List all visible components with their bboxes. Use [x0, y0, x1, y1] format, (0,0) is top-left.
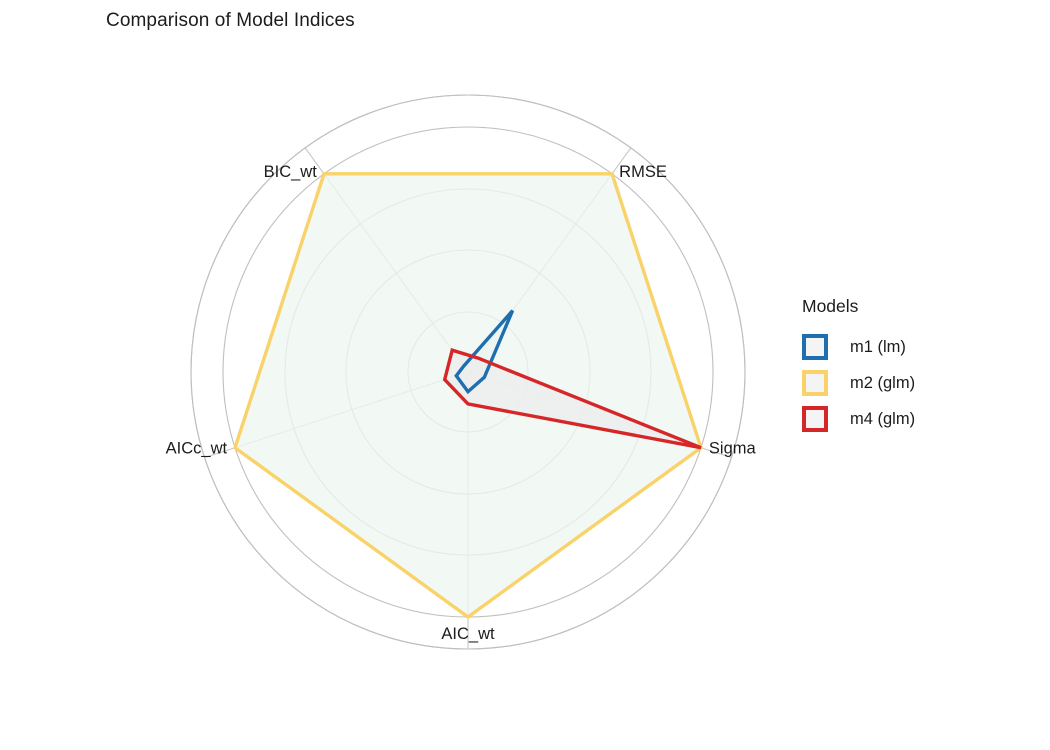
legend-title: Models [802, 296, 1017, 317]
axis-tick-label-aic_wt: AIC_wt [441, 625, 495, 643]
axis-tick-label-sigma: Sigma [709, 439, 757, 457]
legend-item[interactable]: m2 (glm) [802, 365, 1017, 401]
axis-tick-label-rmse: RMSE [619, 163, 667, 181]
radar-chart-figure: Comparison of Model Indices RMSESigmaAIC… [0, 0, 1050, 750]
legend: Models m1 (lm)m2 (glm)m4 (glm) [802, 296, 1017, 437]
legend-item-label: m1 (lm) [850, 338, 906, 357]
legend-item[interactable]: m1 (lm) [802, 329, 1017, 365]
legend-entries: m1 (lm)m2 (glm)m4 (glm) [802, 329, 1017, 437]
legend-item-label: m2 (glm) [850, 374, 915, 393]
legend-color-swatch [802, 406, 828, 432]
axis-tick-label-bic_wt: BIC_wt [264, 163, 318, 181]
legend-item-label: m4 (glm) [850, 410, 915, 429]
axis-tick-label-aicc_wt: AICc_wt [166, 439, 228, 457]
legend-color-swatch [802, 370, 828, 396]
legend-item[interactable]: m4 (glm) [802, 401, 1017, 437]
legend-color-swatch [802, 334, 828, 360]
